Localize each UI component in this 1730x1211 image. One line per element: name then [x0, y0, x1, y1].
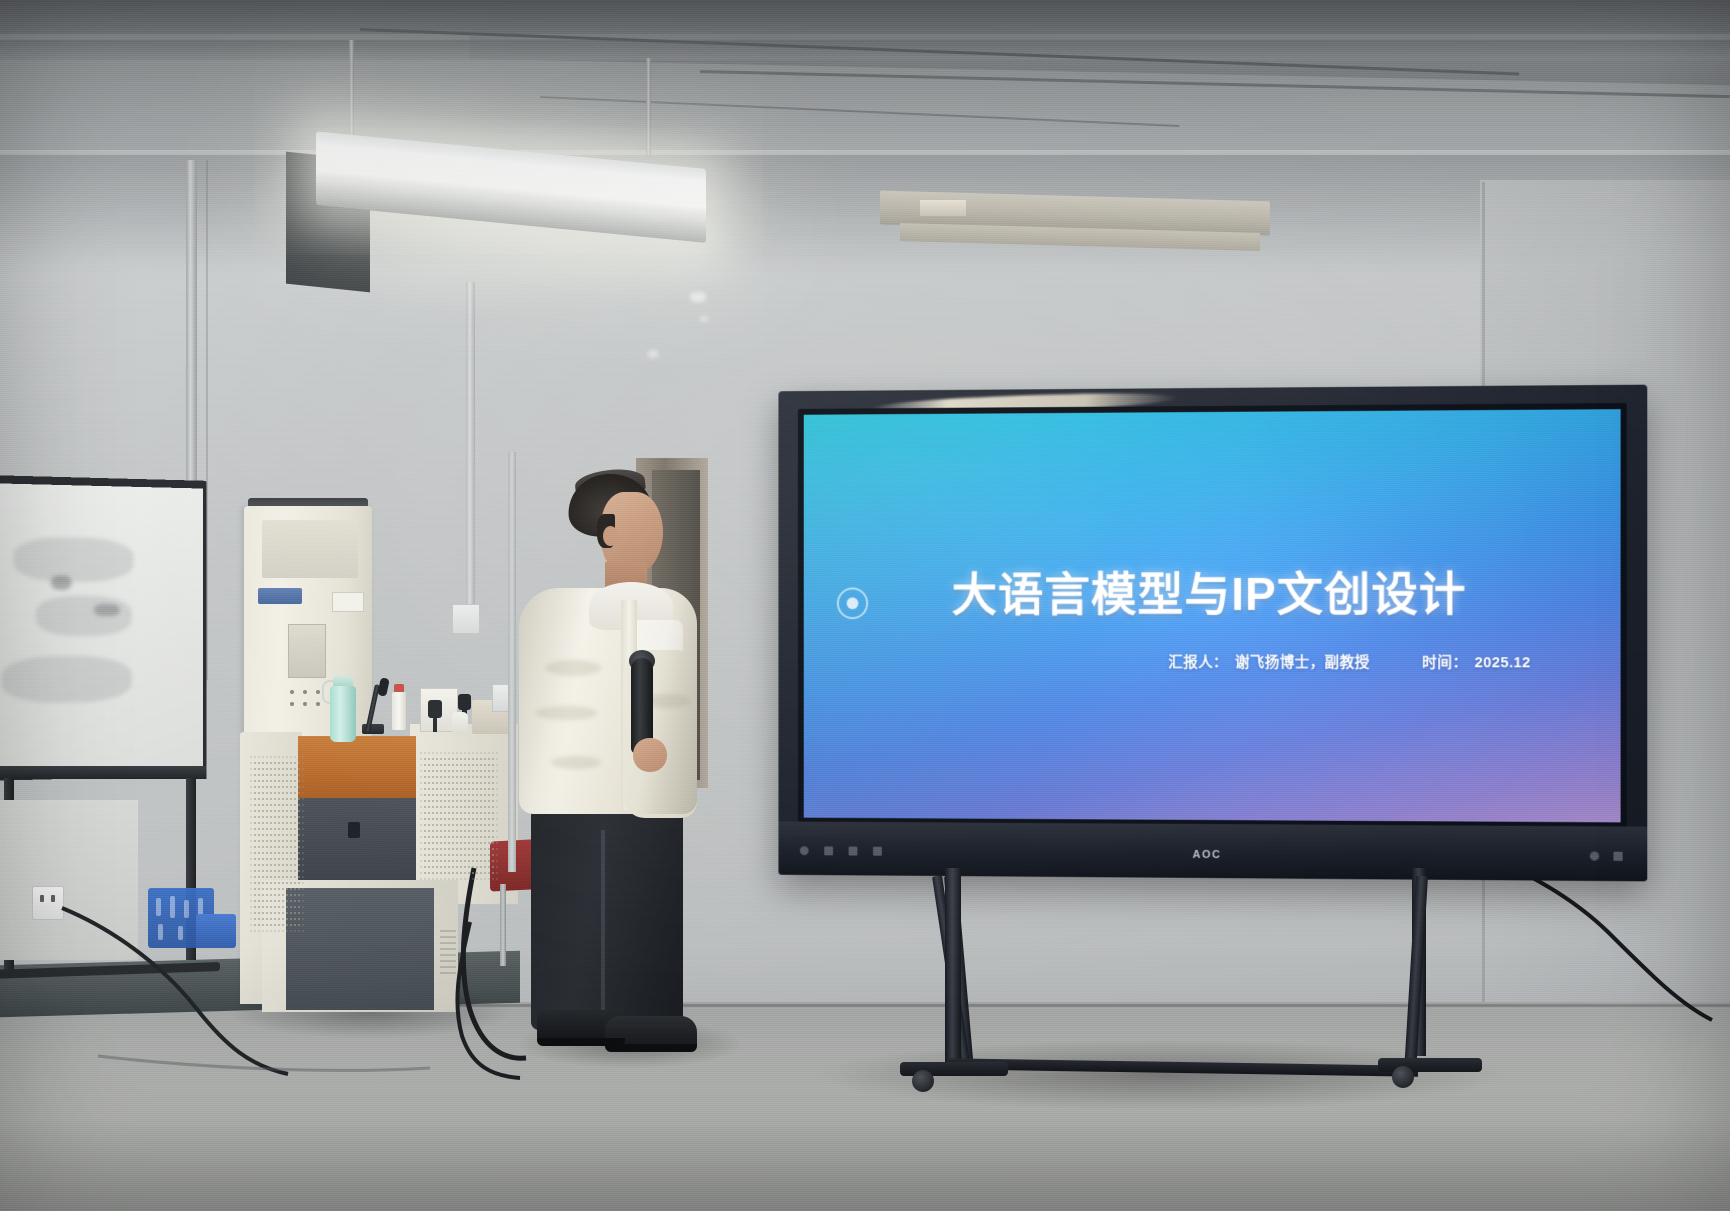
whiteboard-smudge — [14, 537, 134, 583]
fabric-fold — [535, 706, 597, 720]
air-conditioner-brand-logo — [258, 588, 302, 604]
wall-mark-1 — [690, 292, 706, 302]
slide-title: 大语言模型与IP文创设计 — [804, 557, 1621, 624]
shoe-sole-right — [605, 1044, 697, 1052]
wall-socket-upper[interactable] — [452, 604, 480, 634]
air-conditioner-grille — [262, 520, 358, 578]
ceiling-beam — [0, 0, 1730, 34]
power-button[interactable] — [800, 846, 809, 855]
whiteboard-smudge — [36, 596, 131, 636]
display-brand-logo: AOC — [1192, 849, 1221, 861]
display-control-buttons[interactable] — [800, 846, 882, 855]
wall-top-shading — [0, 155, 1730, 275]
slide-metadata: 汇报人： 谢飞扬博士，副教授 时间： 2025.12 — [1168, 651, 1530, 672]
air-conditioner-label — [332, 592, 364, 612]
display-stand-caster-right — [1392, 1066, 1414, 1088]
camera-stem — [433, 716, 437, 732]
presentation-slide: 大语言模型与IP文创设计 汇报人： 谢飞扬博士，副教授 时间： 2025.12 — [804, 409, 1621, 822]
air-conditioner-buttons[interactable] — [290, 690, 324, 712]
slide-presenter-group: 汇报人： 谢飞扬博士，副教授 — [1168, 651, 1369, 672]
podium-right-speaker-grille — [420, 752, 500, 884]
display-sensor-group — [1590, 852, 1623, 861]
air-conditioner-display — [288, 624, 326, 678]
wall-conduit-pipe — [466, 282, 475, 612]
whiteboard-smudge — [94, 604, 120, 616]
slide-date-group: 时间： 2025.12 — [1422, 651, 1531, 672]
volume-button[interactable] — [873, 847, 882, 856]
podium-left-speaker-grille — [250, 756, 306, 936]
photo-scene: 大语言模型与IP文创设计 汇报人： 谢飞扬博士，副教授 时间： 2025.12 — [0, 0, 1730, 1211]
small-bottle — [392, 692, 406, 730]
slide-presenter-label: 汇报人： — [1168, 651, 1227, 672]
slide-date-label: 时间： — [1422, 651, 1467, 672]
duct-access-plate — [920, 200, 966, 216]
water-bottle — [330, 686, 356, 742]
whiteboard-smudge — [51, 576, 71, 590]
menu-button[interactable] — [824, 846, 833, 855]
indicator-led-icon — [1613, 852, 1622, 861]
trouser-seam — [601, 830, 605, 1020]
display-stand-column-left — [945, 868, 961, 1068]
fabric-fold — [551, 756, 601, 769]
desk-camera-2 — [458, 694, 471, 710]
whiteboard-surface — [0, 483, 203, 772]
podium-desktop — [298, 736, 416, 802]
display-screen[interactable]: 大语言模型与IP文创设计 汇报人： 谢飞扬博士，副教授 时间： 2025.12 — [804, 409, 1621, 822]
light-hanger-rod-2 — [646, 58, 651, 166]
ir-sensor-icon — [1590, 852, 1599, 861]
presenter-trousers — [531, 800, 683, 1030]
fabric-fold — [545, 660, 601, 676]
podium-lock[interactable] — [348, 822, 360, 838]
input-button[interactable] — [849, 847, 858, 856]
presenter — [505, 470, 705, 1070]
smart-display[interactable]: 大语言模型与IP文创设计 汇报人： 谢飞扬博士，副教授 时间： 2025.12 — [778, 385, 1647, 882]
presenter-ear — [603, 526, 618, 546]
whiteboard-smudge — [2, 656, 132, 703]
desk-object-white — [452, 712, 468, 734]
whiteboard-marker-tray — [0, 766, 207, 779]
slide-presenter-name: 谢飞扬博士，副教授 — [1235, 651, 1370, 672]
wall-pipe — [186, 160, 197, 520]
display-stand-caster-left — [912, 1070, 934, 1092]
slide-date-value: 2025.12 — [1475, 655, 1531, 671]
presenter-hand — [633, 738, 667, 772]
desk-camera-1 — [428, 700, 442, 718]
wall-mark-3 — [700, 316, 708, 322]
display-bottom-bezel: AOC — [778, 821, 1647, 881]
wall-mark-2 — [648, 350, 658, 358]
